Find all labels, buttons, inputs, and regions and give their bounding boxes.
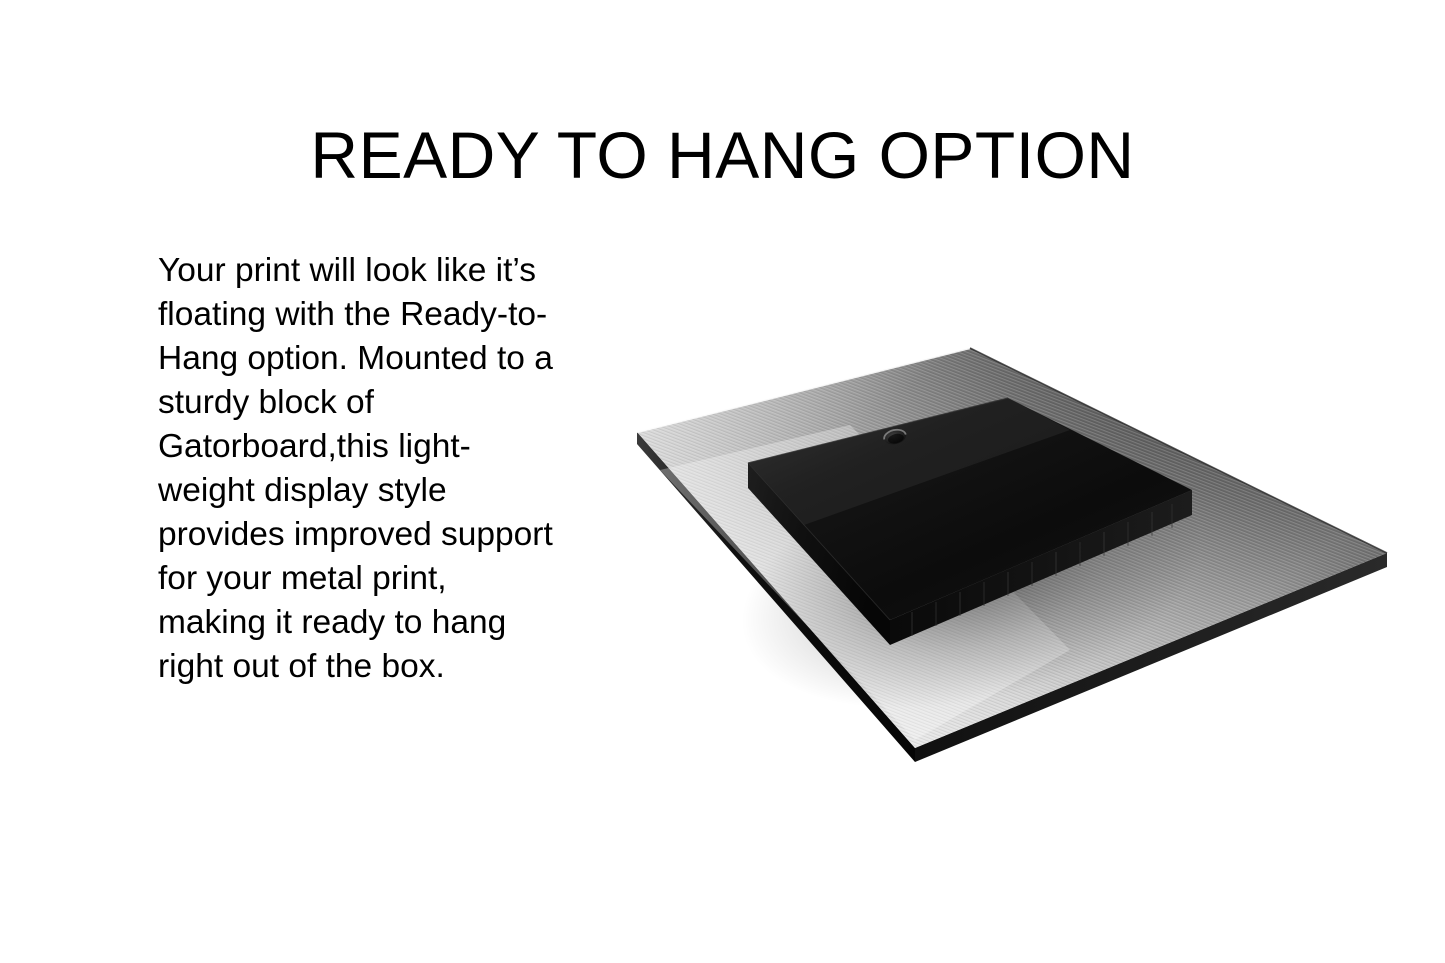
- page-title: READY TO HANG OPTION: [0, 122, 1445, 188]
- product-illustration-svg: [600, 320, 1420, 770]
- description-paragraph: Your print will look like it’s floating …: [158, 249, 558, 689]
- product-illustration: [600, 320, 1420, 770]
- slide-canvas: READY TO HANG OPTION Your print will loo…: [0, 0, 1445, 963]
